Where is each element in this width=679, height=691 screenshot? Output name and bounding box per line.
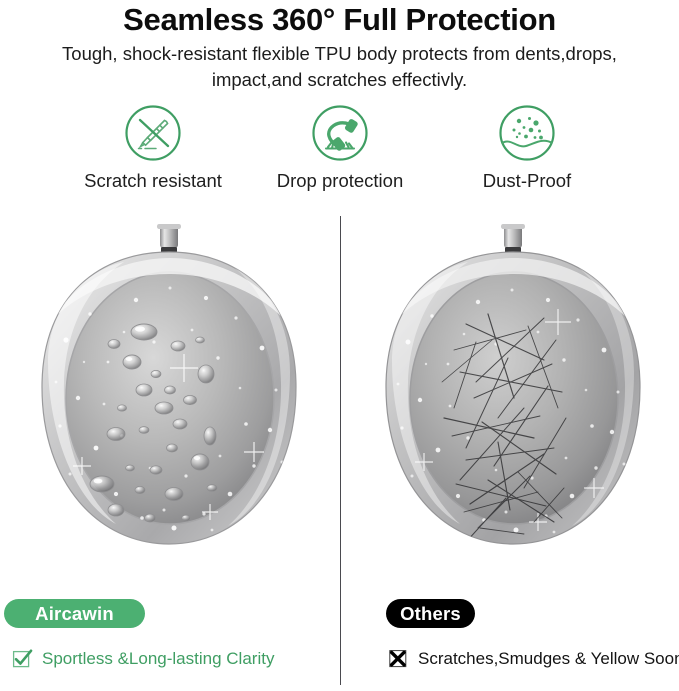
caption-others: Scratches,Smudges & Yellow Soon [388, 648, 679, 669]
feature-label: Drop protection [277, 170, 403, 192]
feature-list: Scratch resistant Drop protection [62, 103, 618, 192]
dust-particles-icon [497, 103, 557, 163]
status-badge-aircawin: Aircawin [4, 599, 145, 628]
product-image-others [348, 222, 678, 582]
status-badge-others: Others [386, 599, 475, 628]
page-subtitle: Tough, shock-resistant flexible TPU body… [44, 41, 635, 92]
screwdriver-no-scratch-icon [123, 103, 183, 163]
caption-text: Scratches,Smudges & Yellow Soon [418, 649, 679, 669]
comparison-divider [340, 216, 341, 685]
feature-item-drop-protection: Drop protection [249, 103, 431, 192]
feature-item-dust-proof: Dust-Proof [436, 103, 618, 192]
feature-item-scratch-resistant: Scratch resistant [62, 103, 244, 192]
product-image-aircawin [4, 222, 334, 582]
feature-label: Dust-Proof [483, 170, 571, 192]
caption-text: Sportless &Long-lasting Clarity [42, 649, 274, 669]
feature-label: Scratch resistant [84, 170, 222, 192]
x-box-icon [388, 648, 409, 669]
falling-phone-icon [310, 103, 370, 163]
page-title: Seamless 360° Full Protection [0, 2, 679, 38]
caption-aircawin: Sportless &Long-lasting Clarity [12, 648, 274, 669]
check-box-icon [12, 648, 33, 669]
